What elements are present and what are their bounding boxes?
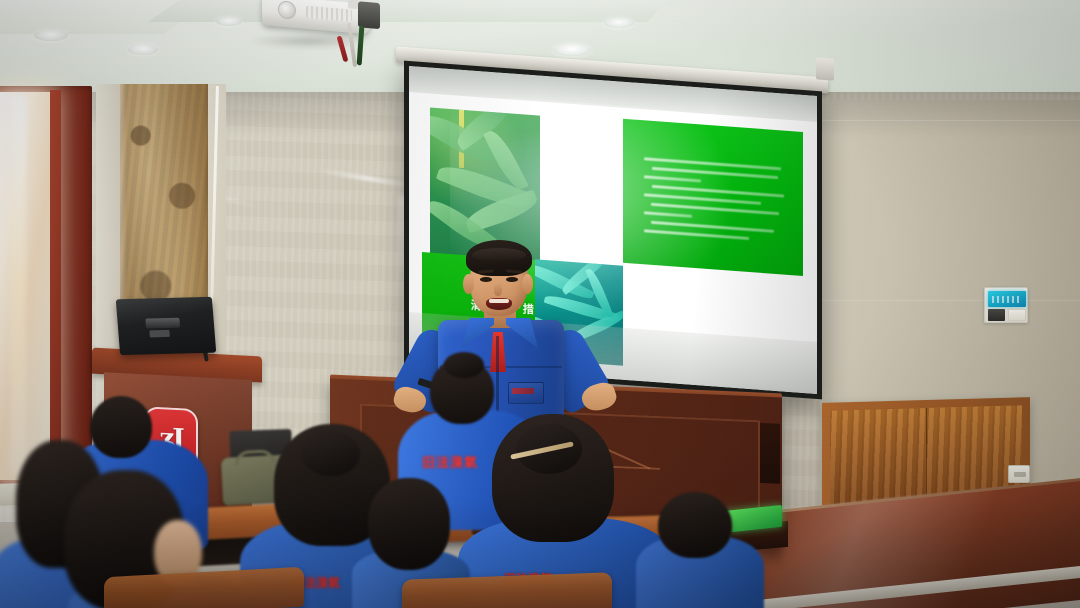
attendee-head [658, 492, 732, 558]
slide-body-block [623, 119, 803, 276]
cabinet-door-left[interactable] [830, 408, 927, 505]
window-glare [10, 96, 26, 476]
presenter-mouth [486, 298, 512, 310]
monitor-brand-badge [145, 318, 180, 329]
wall-control-panel[interactable] [984, 287, 1028, 323]
attendee-hair-bun [444, 352, 484, 378]
window-mullion [50, 90, 61, 482]
theater-chair[interactable] [402, 572, 612, 608]
recessed-downlight [34, 30, 68, 41]
projector-mount [348, 0, 358, 9]
presenter-eye [480, 277, 492, 282]
wall-outlet [1008, 465, 1030, 483]
attendee-hair-bun [302, 432, 360, 476]
recessed-downlight [553, 44, 591, 56]
conference-room-photo: 清洁生产措施 [0, 0, 1080, 608]
attendee-far-right [636, 492, 766, 608]
presenter-nose [494, 283, 502, 296]
slide-text-line [644, 211, 693, 218]
presenter-ear [522, 274, 533, 294]
presenter-eye [506, 277, 518, 282]
attendee-hair [368, 478, 450, 570]
slide-text-line [644, 175, 701, 182]
recessed-downlight [128, 44, 158, 55]
desktop-monitor [116, 297, 216, 355]
recessed-downlight [604, 18, 634, 28]
screen-roller-cap [816, 57, 834, 80]
control-panel-screen[interactable] [988, 291, 1026, 307]
slide-photo-sugarcane [430, 107, 540, 262]
presenter-ear [463, 274, 474, 294]
control-panel-switch[interactable] [1008, 309, 1026, 321]
slide-text-line [644, 229, 750, 240]
presenter-hair [466, 240, 532, 276]
control-panel-display [988, 309, 1005, 321]
recessed-downlight [216, 17, 242, 26]
